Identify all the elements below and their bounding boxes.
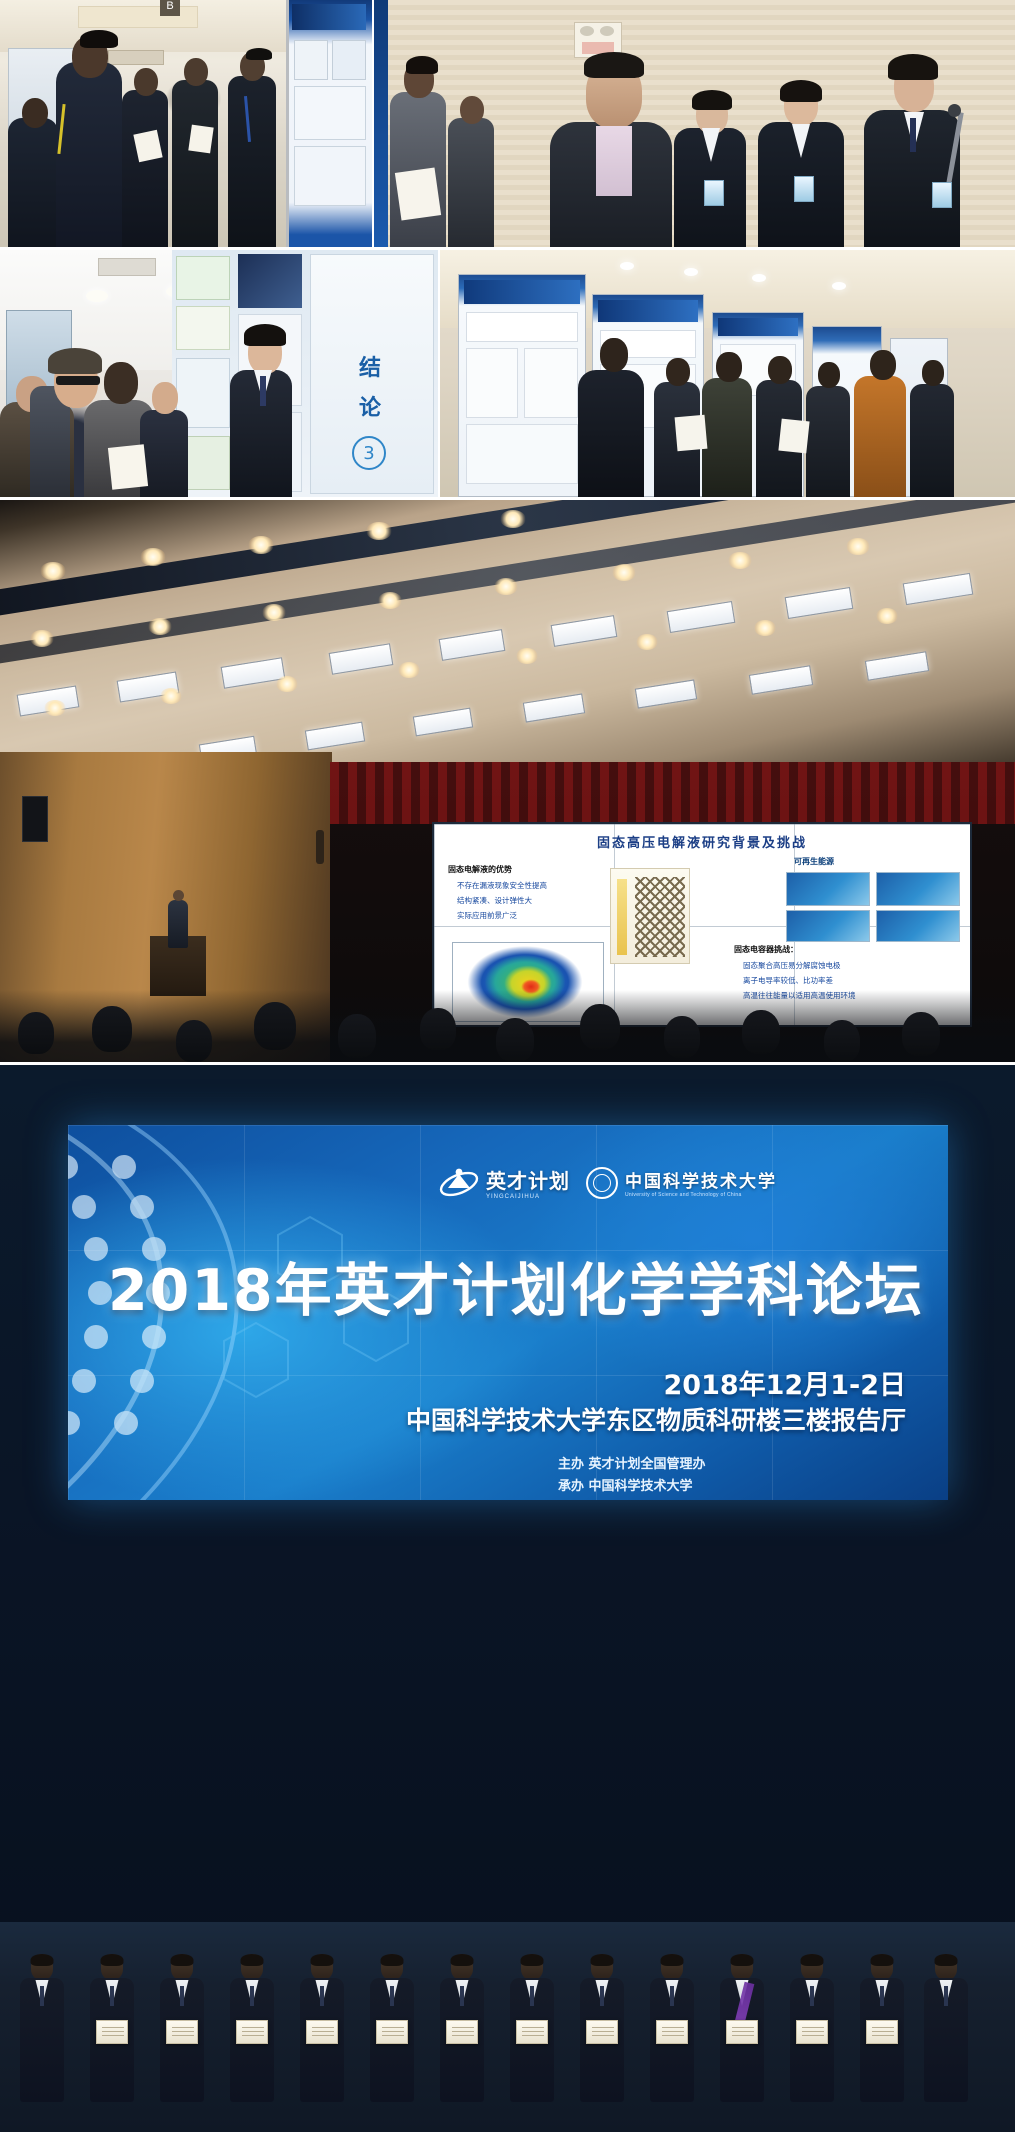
certificate <box>796 2020 828 2044</box>
photo-poster-session-left: Attendees with badges and lanyards liste… <box>0 0 372 247</box>
banner-organizer: 主办 英才计划全国管理办 <box>558 1453 706 1472</box>
slide-challenges-heading: 固态电容器挑战： <box>734 944 962 955</box>
photo-poster-hall-wide: Wide view of the poster corridor with ro… <box>440 250 1015 497</box>
banner-logo-row: 英才计划 YINGCAIJIHUA 中国科学技术大学 University of… <box>438 1165 777 1200</box>
speaker-figure <box>168 900 188 948</box>
certificate <box>726 2020 758 2044</box>
certificate <box>96 2020 128 2044</box>
slide-renewable-label: 可再生能源 <box>794 856 834 867</box>
stage-curtain <box>330 762 1015 824</box>
photo-award-group: Award recipients holding certificates st… <box>0 1065 1015 2132</box>
banner-co-organizer: 承办 中国科学技术大学 <box>558 1475 693 1494</box>
slide-photo-bus <box>786 910 870 942</box>
certificate <box>306 2020 338 2044</box>
certificate <box>586 2020 618 2044</box>
slide-challenge-bullet-2: 离子电导率较低、比功率差 <box>743 975 962 986</box>
slide-photo-solar <box>876 910 960 942</box>
photo-collage: Attendees with badges and lanyards liste… <box>0 0 1015 2132</box>
logo-ustc: 中国科学技术大学 University of Science and Techn… <box>586 1167 777 1199</box>
event-led-backdrop: 英才计划 YINGCAIJIHUA 中国科学技术大学 University of… <box>68 1125 948 1500</box>
certificate <box>236 2020 268 2044</box>
slide-title: 固态高压电解液研究背景及挑战 <box>434 832 970 851</box>
logo-ustc-text: 中国科学技术大学 <box>625 1172 777 1192</box>
slide-challenge-bullet-1: 固态聚合高压易分解腐蚀电极 <box>743 960 962 971</box>
logo-yingcai-program: 英才计划 YINGCAIJIHUA <box>438 1165 570 1200</box>
logo-yingcai-text: 英才计划 <box>486 1169 570 1193</box>
certificate <box>166 2020 198 2044</box>
logo-ustc-english: University of Science and Technology of … <box>625 1192 777 1198</box>
swoosh-icon <box>438 1166 480 1200</box>
certificate <box>376 2020 408 2044</box>
certificate <box>446 2020 478 2044</box>
photo-auditorium-lecture: Lecture hall with a speaker at the podiu… <box>0 500 1015 1062</box>
slide-photo-train <box>876 872 960 906</box>
slide-photo-ev <box>786 872 870 906</box>
photo-poster-session-right: A senior official in a dark jacket speak… <box>374 0 1015 247</box>
certificate <box>516 2020 548 2044</box>
banner-venue: 中国科学技术大学东区物质科研楼三楼报告厅 <box>406 1401 906 1437</box>
banner-title: 2018年英才计划化学学科论坛 <box>108 1245 908 1327</box>
photo-poster-discussion-left: Judges in suits with conference badges d… <box>0 250 438 497</box>
auditorium-audience <box>0 990 1015 1062</box>
slide-molecule-diagram <box>610 868 690 964</box>
certificate <box>656 2020 688 2044</box>
logo-yingcai-pinyin: YINGCAIJIHUA <box>486 1194 570 1200</box>
certificate <box>866 2020 898 2044</box>
banner-date: 2018年12月1-2日 <box>664 1363 907 1402</box>
ustc-seal-icon <box>586 1167 618 1199</box>
